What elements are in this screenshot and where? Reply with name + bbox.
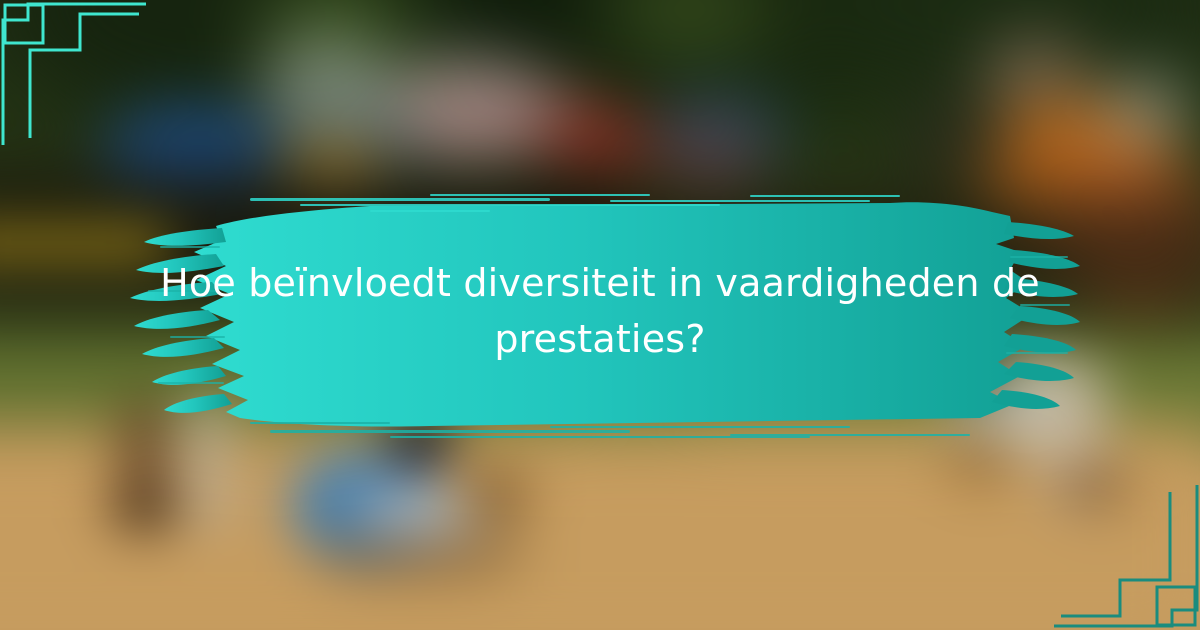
runner-shoe-right [1055,460,1130,510]
spectator-blob-blue [650,90,790,180]
fielder-shoe-left [110,490,180,530]
tent-blob-dark [900,90,1010,190]
player-glove [460,470,530,520]
page-title: Hoe beïnvloedt diversiteit in vaardighed… [150,255,1050,367]
dirt-infield-blob [0,430,1200,630]
spectator-blob-white [1100,70,1190,150]
player-sliding-shadow [315,525,525,575]
poster-canvas: Hoe beïnvloedt diversiteit in vaardighed… [0,0,1200,630]
